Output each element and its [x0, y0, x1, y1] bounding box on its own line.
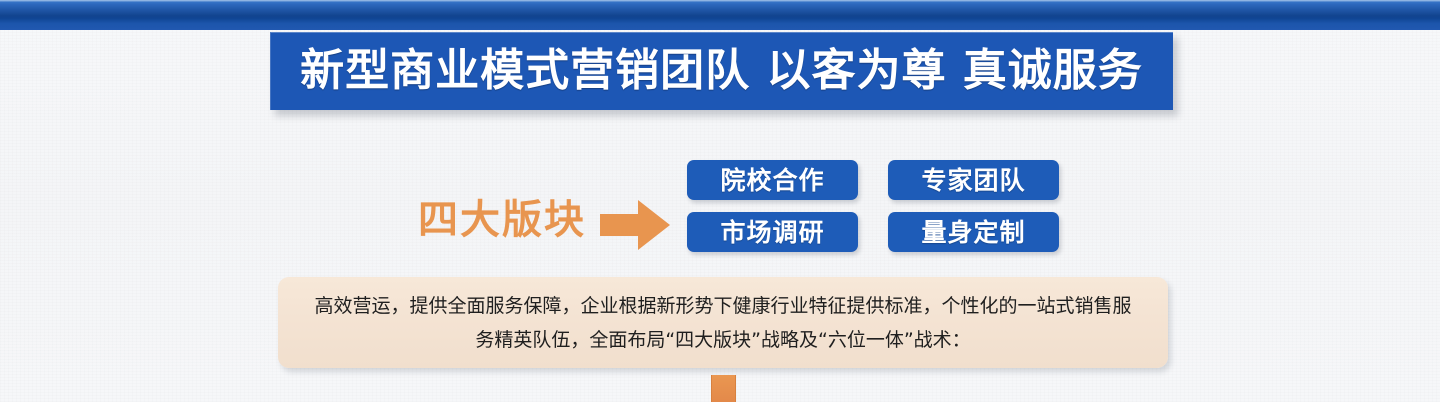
section-box-1-label: 院校合作 — [720, 168, 824, 193]
title-banner: 新型商业模式营销团队 以客为尊 真诚服务 — [270, 32, 1173, 110]
right-arrow-icon — [600, 200, 670, 250]
page-title: 新型商业模式营销团队 以客为尊 真诚服务 — [300, 49, 1143, 93]
section-box-1[interactable]: 院校合作 — [687, 160, 858, 200]
section-box-4[interactable]: 量身定制 — [888, 212, 1059, 252]
section-box-3-label: 市场调研 — [720, 220, 824, 245]
description-card: 高效营运，提供全面服务保障，企业根据新形势下健康行业特征提供标准，个性化的一站式… — [278, 277, 1168, 368]
four-sections-label: 四大版块 — [418, 200, 586, 240]
orange-connector-bar — [711, 375, 736, 402]
description-line-1: 高效营运，提供全面服务保障，企业根据新形势下健康行业特征提供标准，个性化的一站式… — [314, 289, 1131, 323]
section-box-3[interactable]: 市场调研 — [687, 212, 858, 252]
section-box-4-label: 量身定制 — [921, 220, 1025, 245]
section-box-2-label: 专家团队 — [921, 168, 1025, 193]
section-boxes-grid: 院校合作 专家团队 市场调研 量身定制 — [687, 160, 1047, 252]
description-line-2: 务精英队伍，全面布局“四大版块”战略及“六位一体”战术： — [475, 323, 970, 357]
top-accent-strip — [0, 0, 1440, 30]
page-root: 新型商业模式营销团队 以客为尊 真诚服务 四大版块 院校合作 专家团队 市场调研… — [0, 0, 1440, 402]
top-accent-strip-highlight — [0, 0, 1440, 2]
section-box-2[interactable]: 专家团队 — [888, 160, 1059, 200]
